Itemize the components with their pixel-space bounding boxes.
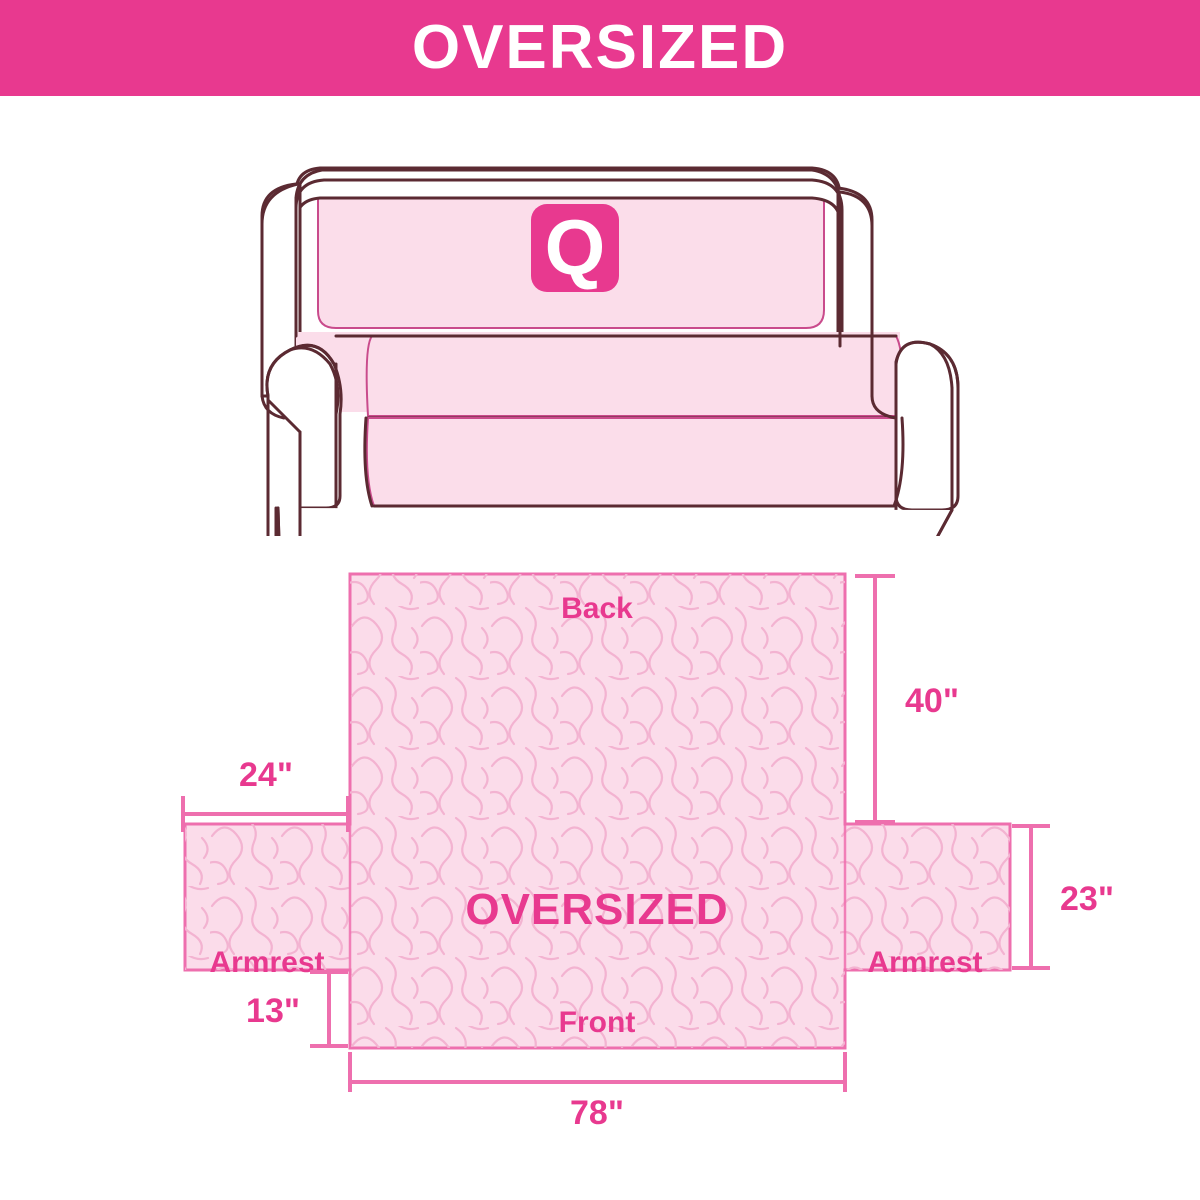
dimension-armrest-height (1012, 826, 1050, 968)
label-front: Front (559, 1006, 636, 1039)
dimension-total-width-value: 78" (570, 1094, 624, 1132)
page-title: OVERSIZED (412, 17, 788, 79)
label-center-size: OVERSIZED (465, 885, 728, 934)
label-armrest-right: Armrest (867, 946, 982, 979)
dimension-armrest-width-value: 24" (239, 756, 293, 794)
dimension-front-drop (310, 972, 348, 1046)
brand-logo: Q (531, 203, 619, 292)
sofa-illustration: Q (0, 96, 1200, 536)
dimension-front-drop-value: 13" (246, 992, 300, 1030)
logo-letter: Q (545, 203, 606, 291)
label-back: Back (561, 592, 633, 625)
dimension-total-width (350, 1052, 845, 1092)
dimension-armrest-height-value: 23" (1060, 880, 1114, 918)
label-armrest-left: Armrest (209, 946, 324, 979)
dimension-back-depth (855, 576, 895, 822)
cover-layout-diagram: Back Front Armrest Armrest OVERSIZED 40"… (0, 536, 1200, 1200)
header-banner: OVERSIZED (0, 0, 1200, 96)
dimension-back-depth-value: 40" (905, 682, 959, 720)
